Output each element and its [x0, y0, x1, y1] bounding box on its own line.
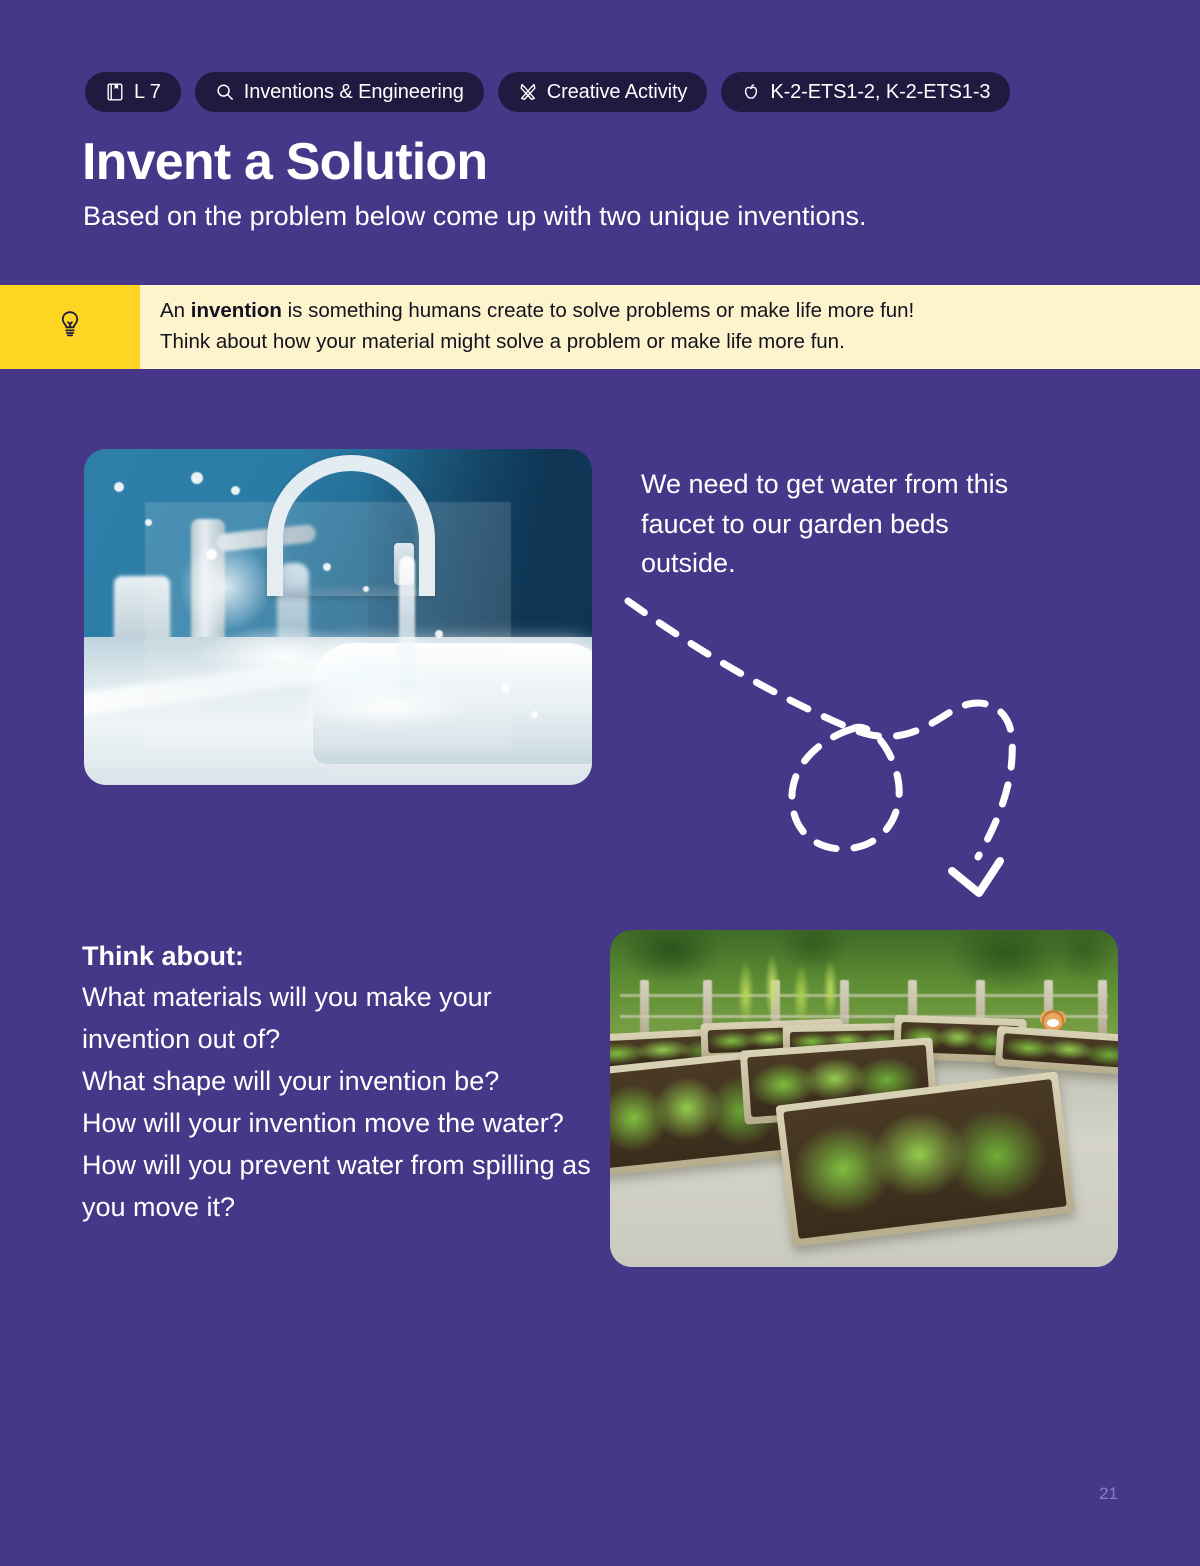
pill-subject[interactable]: Inventions & Engineering: [195, 72, 484, 112]
callout-suffix: is something humans create to solve prob…: [282, 299, 914, 322]
pill-lesson-label: L 7: [134, 82, 161, 102]
garden-photo: [610, 930, 1118, 1267]
pill-subject-label: Inventions & Engineering: [244, 82, 464, 102]
lightbulb-icon: [53, 307, 87, 346]
crossed-tools-icon: [518, 82, 538, 102]
callout-icon-box: [0, 285, 140, 369]
callout-prefix: An: [160, 299, 191, 322]
book-icon: [105, 82, 125, 102]
think-about-heading: Think about:: [82, 936, 602, 978]
pill-lesson[interactable]: L 7: [85, 72, 181, 112]
think-about-block: Think about: What materials will you mak…: [82, 936, 602, 1229]
think-question: What materials will you make your invent…: [82, 977, 602, 1061]
think-question: What shape will your invention be?: [82, 1061, 602, 1103]
faucet-photo: [84, 449, 592, 785]
pill-activity-type-label: Creative Activity: [547, 82, 688, 102]
dashed-looping-arrow-icon: [600, 589, 1040, 919]
info-callout: An invention is something humans create …: [0, 285, 1200, 369]
page-header: L 7 Inventions & Engineering Creative Ac…: [0, 0, 1200, 369]
page-number: 21: [1099, 1484, 1118, 1504]
page-subtitle: Based on the problem below come up with …: [83, 200, 1200, 232]
apple-icon: [741, 82, 761, 102]
pill-standards[interactable]: K-2-ETS1-2, K-2-ETS1-3: [721, 72, 1010, 112]
metadata-pill-row: L 7 Inventions & Engineering Creative Ac…: [0, 72, 1200, 112]
think-question: How will you prevent water from spilling…: [82, 1145, 602, 1229]
pill-standards-label: K-2-ETS1-2, K-2-ETS1-3: [770, 82, 990, 102]
problem-statement: We need to get water from this faucet to…: [641, 465, 1041, 585]
magnifier-icon: [215, 82, 235, 102]
callout-bold-term: invention: [191, 299, 282, 322]
pill-activity-type[interactable]: Creative Activity: [498, 72, 708, 112]
callout-line-1: An invention is something humans create …: [160, 296, 1176, 327]
callout-line-2: Think about how your material might solv…: [160, 327, 1176, 358]
page-title: Invent a Solution: [82, 134, 1200, 190]
callout-body: An invention is something humans create …: [140, 285, 1200, 369]
think-question: How will your invention move the water?: [82, 1103, 602, 1145]
